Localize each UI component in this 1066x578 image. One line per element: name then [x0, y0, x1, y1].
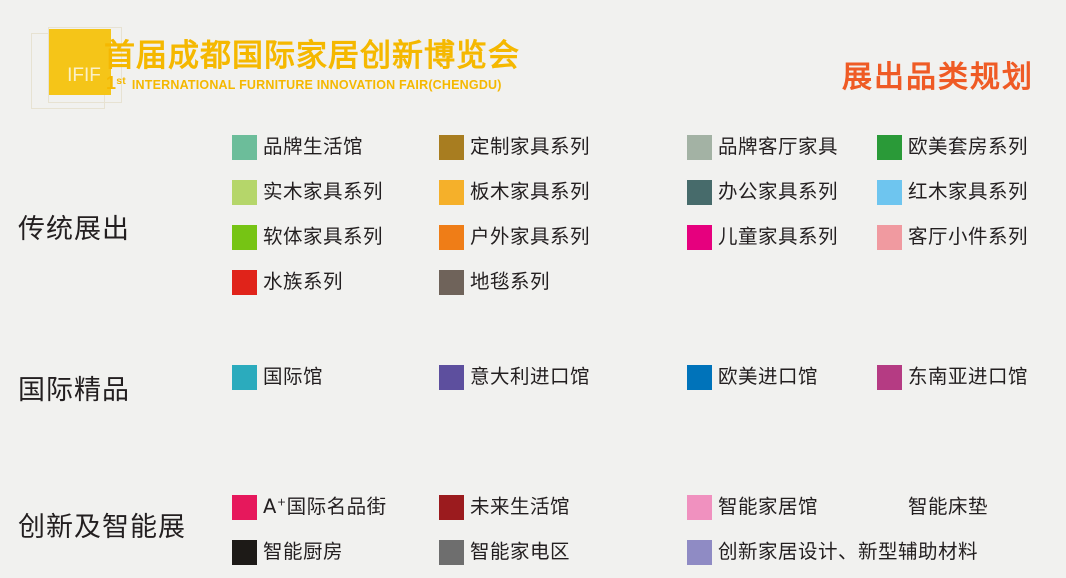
color-swatch-icon [439, 135, 464, 160]
category-label: 智能家电区 [470, 542, 570, 562]
category-label: A+国际名品街 [263, 497, 387, 517]
category-row: 国际馆意大利进口馆欧美进口馆东南亚进口馆 [232, 358, 1066, 403]
color-swatch-icon [687, 540, 712, 565]
page-header: IFIF 首届成都国际家居创新博览会 1stINTERNATIONAL FURN… [0, 0, 1066, 118]
color-swatch-icon [439, 270, 464, 295]
section-label: 传统展出 [18, 207, 130, 246]
category-item[interactable]: 欧美进口馆 [687, 362, 818, 392]
category-item[interactable]: 意大利进口馆 [439, 362, 590, 392]
page-title: 展出品类规划 [842, 52, 1034, 96]
category-row: 智能厨房智能家电区创新家居设计、新型辅助材料 [232, 533, 1066, 578]
category-item[interactable]: 红木家具系列 [877, 177, 1028, 207]
section-label: 创新及智能展 [18, 505, 186, 544]
category-label: 儿童家具系列 [718, 227, 838, 247]
category-label: 东南亚进口馆 [908, 367, 1028, 387]
brand-name-cn: 首届成都国际家居创新博览会 [104, 30, 520, 75]
category-row: 品牌生活馆定制家具系列品牌客厅家具欧美套房系列 [232, 128, 1066, 173]
category-item[interactable]: 客厅小件系列 [877, 222, 1028, 252]
category-item[interactable]: 东南亚进口馆 [877, 362, 1028, 392]
category-label: 办公家具系列 [718, 182, 838, 202]
color-swatch-icon [877, 180, 902, 205]
category-label: 欧美进口馆 [718, 367, 818, 387]
category-item[interactable]: 软体家具系列 [232, 222, 383, 252]
category-item[interactable]: 品牌生活馆 [232, 132, 363, 162]
category-item[interactable]: 未来生活馆 [439, 492, 570, 522]
category-label: 意大利进口馆 [470, 367, 590, 387]
category-label: 智能床垫 [908, 497, 988, 517]
category-grid: A+国际名品街未来生活馆智能家居馆智能床垫智能厨房智能家电区创新家居设计、新型辅… [232, 488, 1066, 578]
category-item[interactable]: 儿童家具系列 [687, 222, 838, 252]
category-row: 水族系列地毯系列 [232, 263, 1066, 308]
category-item[interactable]: 地毯系列 [439, 267, 550, 297]
category-item[interactable]: 板木家具系列 [439, 177, 590, 207]
category-row: 软体家具系列户外家具系列儿童家具系列客厅小件系列 [232, 218, 1066, 263]
color-swatch-icon [877, 495, 902, 520]
category-item[interactable]: 水族系列 [232, 267, 343, 297]
category-item[interactable]: A+国际名品街 [232, 492, 387, 522]
color-swatch-icon [877, 135, 902, 160]
category-item[interactable]: 定制家具系列 [439, 132, 590, 162]
category-label: 客厅小件系列 [908, 227, 1028, 247]
color-swatch-icon [439, 540, 464, 565]
category-item[interactable]: 实木家具系列 [232, 177, 383, 207]
category-item[interactable]: 国际馆 [232, 362, 323, 392]
category-label: 智能家居馆 [718, 497, 818, 517]
category-label: 未来生活馆 [470, 497, 570, 517]
category-label: 品牌客厅家具 [718, 137, 838, 157]
section-label: 国际精品 [18, 368, 130, 407]
color-swatch-icon [687, 365, 712, 390]
category-label-superscript: + [277, 496, 287, 509]
category-label: 实木家具系列 [263, 182, 383, 202]
brand-en-text: INTERNATIONAL FURNITURE INNOVATION FAIR(… [132, 78, 502, 92]
color-swatch-icon [232, 225, 257, 250]
category-label: 水族系列 [263, 272, 343, 292]
category-label: 定制家具系列 [470, 137, 590, 157]
category-grid: 国际馆意大利进口馆欧美进口馆东南亚进口馆 [232, 358, 1066, 403]
category-label: 欧美套房系列 [908, 137, 1028, 157]
color-swatch-icon [232, 270, 257, 295]
category-label: 创新家居设计、新型辅助材料 [718, 542, 978, 562]
color-swatch-icon [232, 180, 257, 205]
brand-ordinal-number: 1 [106, 73, 116, 93]
category-label: 红木家具系列 [908, 182, 1028, 202]
category-item[interactable]: 智能厨房 [232, 537, 343, 567]
category-item[interactable]: 创新家居设计、新型辅助材料 [687, 537, 978, 567]
color-swatch-icon [877, 365, 902, 390]
color-swatch-icon [439, 365, 464, 390]
brand-name-en: 1stINTERNATIONAL FURNITURE INNOVATION FA… [106, 73, 502, 94]
category-item[interactable]: 欧美套房系列 [877, 132, 1028, 162]
color-swatch-icon [687, 180, 712, 205]
color-swatch-icon [687, 135, 712, 160]
color-swatch-icon [232, 365, 257, 390]
color-swatch-icon [439, 225, 464, 250]
category-grid: 品牌生活馆定制家具系列品牌客厅家具欧美套房系列实木家具系列板木家具系列办公家具系… [232, 128, 1066, 308]
category-item[interactable]: 品牌客厅家具 [687, 132, 838, 162]
color-swatch-icon [687, 225, 712, 250]
color-swatch-icon [232, 135, 257, 160]
category-label: 地毯系列 [470, 272, 550, 292]
category-row: 实木家具系列板木家具系列办公家具系列红木家具系列 [232, 173, 1066, 218]
category-label: 国际馆 [263, 367, 323, 387]
category-item[interactable]: 智能家电区 [439, 537, 570, 567]
color-swatch-icon [232, 495, 257, 520]
color-swatch-icon [877, 225, 902, 250]
color-swatch-icon [687, 495, 712, 520]
category-label: 软体家具系列 [263, 227, 383, 247]
color-swatch-icon [439, 495, 464, 520]
color-swatch-icon [439, 180, 464, 205]
color-swatch-icon [232, 540, 257, 565]
category-label: 智能厨房 [263, 542, 343, 562]
category-label: 户外家具系列 [470, 227, 590, 247]
category-item[interactable]: 智能家居馆 [687, 492, 818, 522]
brand-ordinal-suffix: st [116, 76, 126, 87]
category-row: A+国际名品街未来生活馆智能家居馆智能床垫 [232, 488, 1066, 533]
category-item[interactable]: 办公家具系列 [687, 177, 838, 207]
category-item[interactable]: 户外家具系列 [439, 222, 590, 252]
category-item[interactable]: 智能床垫 [877, 492, 988, 522]
category-label: 品牌生活馆 [263, 137, 363, 157]
category-label: 板木家具系列 [470, 182, 590, 202]
